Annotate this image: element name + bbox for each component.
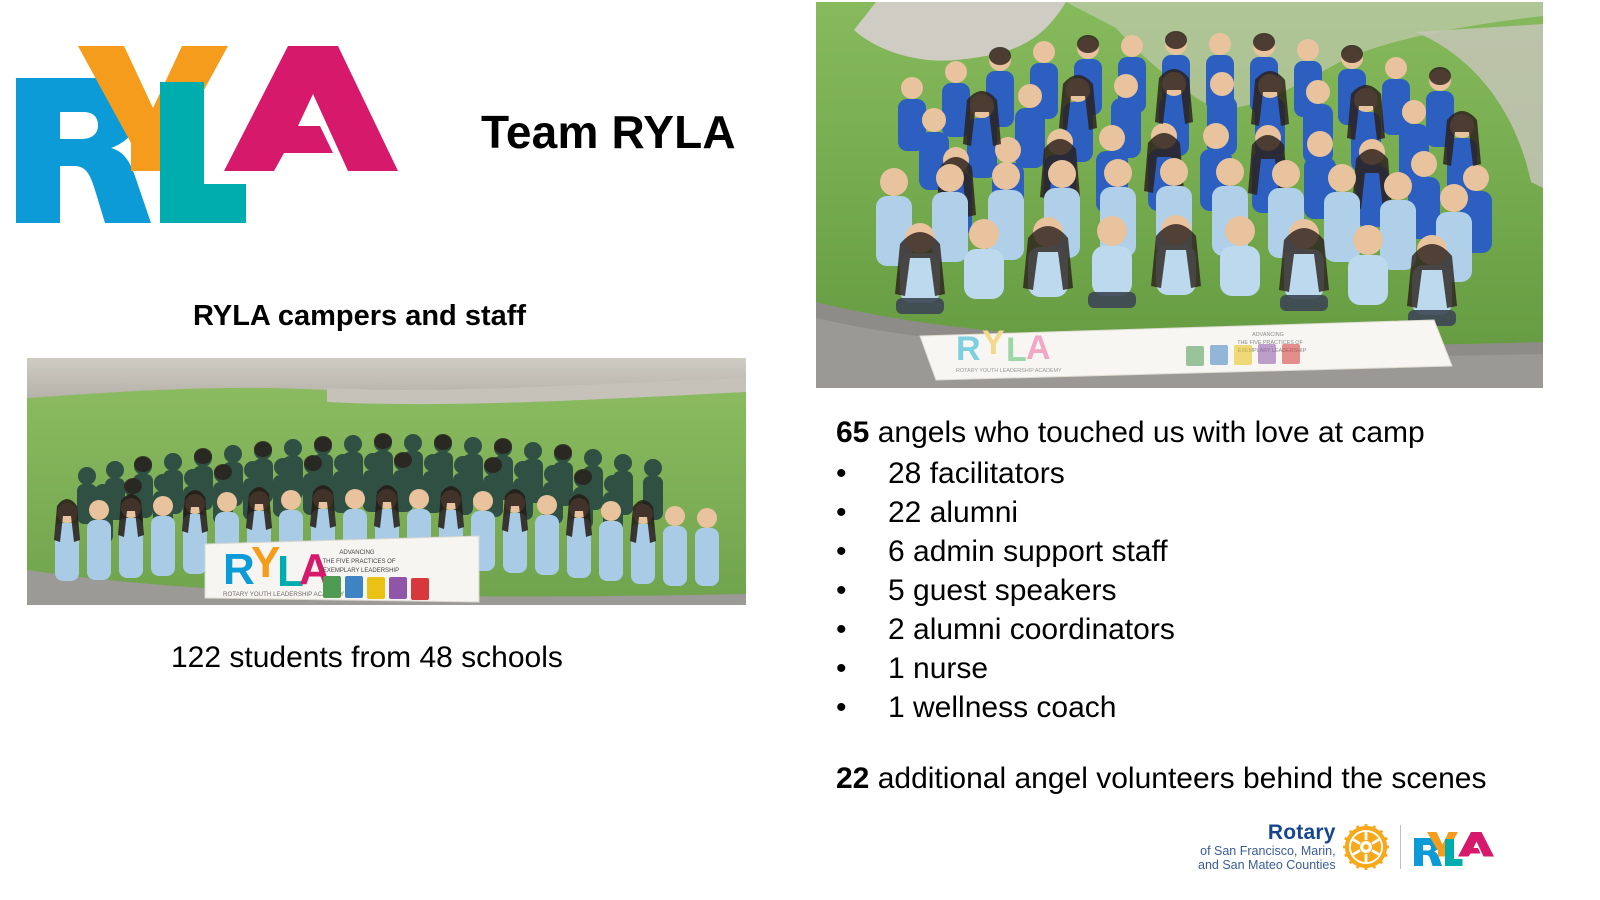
- angels-footer-count: 22: [836, 762, 869, 795]
- list-item-label: 5 guest speakers: [888, 574, 1116, 607]
- list-item: • 1 wellness coach: [836, 688, 1576, 727]
- angels-footer-line: 22 additional angel volunteers behind th…: [836, 762, 1486, 796]
- bullet-icon: •: [836, 649, 856, 688]
- bullet-icon: •: [836, 532, 856, 571]
- svg-text:R: R: [223, 545, 255, 594]
- angels-breakdown-list: • 28 facilitators • 22 alumni • 6 admin …: [836, 454, 1576, 727]
- ryla-letter-l-icon: [160, 82, 246, 223]
- rotary-wordmark: Rotary: [1198, 822, 1336, 844]
- slide-canvas: Team RYLA RYLA campers and staff: [0, 0, 1600, 900]
- list-item-label: 28 facilitators: [888, 457, 1065, 490]
- angels-text-block: 65 angels who touched us with love at ca…: [836, 414, 1576, 727]
- list-item: • 22 alumni: [836, 493, 1576, 532]
- list-item-label: 1 wellness coach: [888, 691, 1116, 724]
- list-item: • 5 guest speakers: [836, 571, 1576, 610]
- bullet-icon: •: [836, 454, 856, 493]
- ryla-small-logo: [1412, 827, 1520, 867]
- angels-footer-rest: additional angel volunteers behind the s…: [869, 762, 1486, 795]
- ryla-logo: [8, 18, 398, 223]
- svg-text:L: L: [1006, 331, 1027, 369]
- list-item-label: 1 nurse: [888, 652, 988, 685]
- campers-photo-caption: 122 students from 48 schools: [171, 641, 563, 675]
- rotary-club-text: Rotary of San Francisco, Marin, and San …: [1198, 822, 1343, 872]
- staff-group-photo: R Y L A ROTARY YOUTH LEADERSHIP ACADEMY …: [816, 2, 1543, 388]
- svg-text:R: R: [956, 330, 981, 368]
- list-item: • 28 facilitators: [836, 454, 1576, 493]
- rotary-ryla-lockup: Rotary of San Francisco, Marin, and San …: [1198, 812, 1550, 882]
- rotary-wheel-icon: [1343, 824, 1389, 870]
- list-item: • 2 alumni coordinators: [836, 610, 1576, 649]
- svg-text:Y: Y: [982, 324, 1005, 362]
- banner: R Y L A ROTARY YOUTH LEADERSHIP ACADEMY …: [205, 536, 479, 602]
- bullet-icon: •: [836, 571, 856, 610]
- list-item-label: 6 admin support staff: [888, 535, 1168, 568]
- svg-text:ROTARY YOUTH LEADERSHIP ACADEM: ROTARY YOUTH LEADERSHIP ACADEMY: [956, 368, 1062, 374]
- lockup-divider: [1400, 825, 1401, 869]
- list-item-label: 2 alumni coordinators: [888, 613, 1175, 646]
- campers-group-photo: R Y L A ROTARY YOUTH LEADERSHIP ACADEMY …: [27, 358, 746, 605]
- rotary-district-line-2: and San Mateo Counties: [1198, 858, 1336, 872]
- rotary-district-line-1: of San Francisco, Marin,: [1198, 844, 1336, 858]
- list-item: • 1 nurse: [836, 649, 1576, 688]
- ryla-letter-a-icon: [224, 46, 398, 171]
- angels-headline: 65 angels who touched us with love at ca…: [836, 414, 1576, 452]
- svg-text:EXEMPLARY LEADERSHIP: EXEMPLARY LEADERSHIP: [323, 568, 399, 574]
- svg-text:THE FIVE PRACTICES OF: THE FIVE PRACTICES OF: [322, 559, 395, 565]
- svg-text:ADVANCING: ADVANCING: [1252, 332, 1284, 338]
- campers-photo-heading: RYLA campers and staff: [193, 300, 526, 333]
- svg-text:ADVANCING: ADVANCING: [339, 550, 375, 556]
- bullet-icon: •: [836, 493, 856, 532]
- bullet-icon: •: [836, 688, 856, 727]
- list-item: • 6 admin support staff: [836, 532, 1576, 571]
- bullet-icon: •: [836, 610, 856, 649]
- svg-text:Y: Y: [251, 538, 280, 587]
- angels-headline-rest: angels who touched us with love at camp: [869, 416, 1424, 449]
- list-item-label: 22 alumni: [888, 496, 1018, 529]
- svg-text:A: A: [1026, 329, 1051, 367]
- page-title: Team RYLA: [481, 105, 736, 159]
- angels-count: 65: [836, 416, 869, 449]
